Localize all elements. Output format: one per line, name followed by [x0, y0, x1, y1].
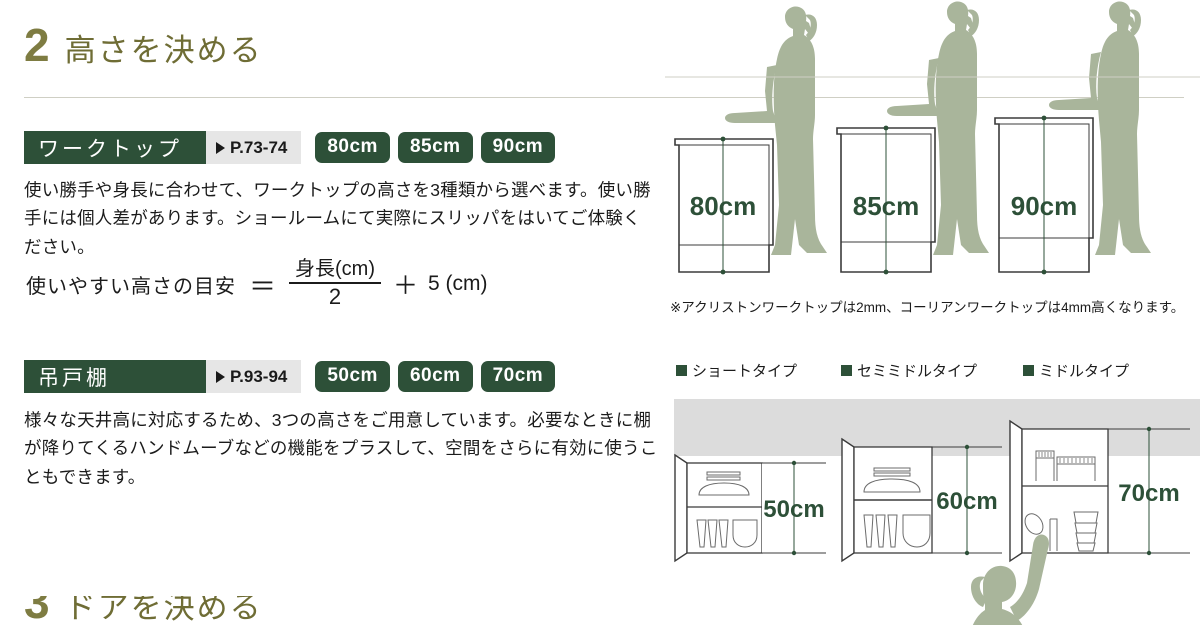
- cabinet-label-row: 吊戸棚 P.93-94 50cm 60cm 70cm: [24, 360, 555, 393]
- cabinet-page-ref[interactable]: P.93-94: [206, 360, 301, 393]
- worktop-unit-90: 90cm: [995, 116, 1093, 275]
- height-formula: 使いやすい高さの目安 ＝ 身長(cm) 2 ＋ 5 (cm): [26, 258, 488, 310]
- cabinet-label: 吊戸棚: [24, 360, 206, 393]
- worktop-pill-85[interactable]: 85cm: [398, 132, 473, 163]
- worktop-body-text: 使い勝手や身長に合わせて、ワークトップの高さを3種類から選べます。使い勝手には個…: [24, 176, 658, 261]
- triangle-right-icon: [216, 371, 225, 383]
- legend-square-icon: [676, 365, 687, 376]
- section-number: 2: [24, 24, 49, 68]
- section-title: 高さを決める: [65, 35, 263, 68]
- cabinet-pill-70[interactable]: 70cm: [481, 361, 556, 392]
- legend-square-icon: [841, 365, 852, 376]
- formula-fraction: 身長(cm) 2: [289, 258, 381, 310]
- cabinet-pill-group: 50cm 60cm 70cm: [315, 360, 555, 393]
- worktop-label: ワークトップ: [24, 131, 206, 164]
- catalog-page: 2 高さを決める ワークトップ P.73-74 80cm 85cm 90cm 使…: [0, 0, 1200, 625]
- cabinet-pill-50[interactable]: 50cm: [315, 361, 390, 392]
- cabinet-body-text: 様々な天井高に対応するため、3つの高さをご用意しています。必要なときに棚が降りて…: [24, 406, 658, 491]
- worktop-unit-80: 80cm: [675, 137, 773, 275]
- cabinet-unit-50: 50cm: [675, 455, 826, 561]
- next-section-heading: 3 ドアを決める: [24, 596, 263, 625]
- worktop-illustration: 80cm 85cm 90cm: [665, 0, 1200, 290]
- cabinet-pill-60[interactable]: 60cm: [398, 361, 473, 392]
- worktop-pill-90[interactable]: 90cm: [481, 132, 556, 163]
- cabinet-dim-70: 70cm: [1118, 480, 1179, 507]
- formula-tail: 5 (cm): [428, 272, 488, 296]
- legend-item-short: ショートタイプ: [676, 360, 797, 381]
- section-heading: 2 高さを決める: [24, 24, 263, 68]
- worktop-page-ref[interactable]: P.73-74: [206, 131, 301, 164]
- cabinet-dim-60: 60cm: [936, 488, 997, 515]
- legend-item-middle: ミドルタイプ: [1023, 360, 1129, 381]
- worktop-pill-80[interactable]: 80cm: [315, 132, 390, 163]
- legend-square-icon: [1023, 365, 1034, 376]
- worktop-unit-85: 85cm: [837, 126, 935, 275]
- worktop-pill-group: 80cm 85cm 90cm: [315, 131, 555, 164]
- cabinet-legend: ショートタイプ セミミドルタイプ ミドルタイプ: [670, 360, 1198, 381]
- right-column: 80cm 85cm 90cm ※アクリストンワークトップは2mm、: [665, 0, 1200, 625]
- next-section-title: ドアを決める: [65, 596, 263, 625]
- cabinet-unit-60: 60cm: [842, 439, 1002, 561]
- formula-lead: 使いやすい高さの目安: [26, 270, 236, 299]
- worktop-page-ref-text: P.73-74: [230, 138, 287, 158]
- triangle-right-icon: [216, 142, 225, 154]
- next-section-number: 3: [24, 596, 49, 625]
- formula-equals: ＝: [249, 265, 276, 304]
- worktop-label-row: ワークトップ P.73-74 80cm 85cm 90cm: [24, 131, 555, 164]
- legend-item-semimiddle: セミミドルタイプ: [841, 360, 977, 381]
- cabinet-door: [675, 455, 687, 561]
- worktop-note: ※アクリストンワークトップは2mm、コーリアンワークトップは4mm高くなります。: [670, 296, 1184, 316]
- person-reaching-silhouette: [965, 534, 1049, 625]
- cabinet-door: [842, 439, 854, 561]
- legend-label-middle: ミドルタイプ: [1039, 360, 1129, 381]
- cabinet-dim-50: 50cm: [763, 496, 824, 523]
- formula-plus: ＋: [393, 266, 418, 302]
- formula-numerator: 身長(cm): [289, 258, 381, 282]
- cabinet-illustration: 50cm: [665, 389, 1200, 625]
- cabinet-door: [1010, 421, 1022, 561]
- worktop-dim-80: 80cm: [690, 191, 757, 221]
- formula-denominator: 2: [329, 284, 341, 310]
- worktop-dim-85: 85cm: [853, 191, 920, 221]
- legend-label-short: ショートタイプ: [692, 360, 797, 381]
- worktop-dim-90: 90cm: [1011, 191, 1078, 221]
- legend-label-semimiddle: セミミドルタイプ: [857, 360, 977, 381]
- left-column: 2 高さを決める ワークトップ P.73-74 80cm 85cm 90cm 使…: [0, 0, 665, 625]
- cabinet-page-ref-text: P.93-94: [230, 367, 287, 387]
